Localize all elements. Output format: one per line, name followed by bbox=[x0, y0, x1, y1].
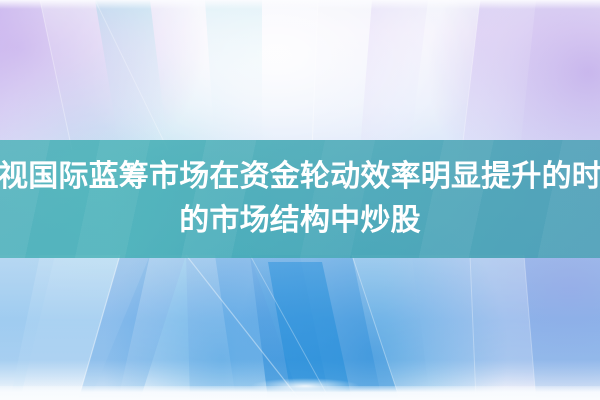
caption-text-block: 透视国际蓝筹市场在资金轮动效率明显提升的时期 的市场结构中炒股 bbox=[0, 140, 600, 258]
banner-image: 透视国际蓝筹市场在资金轮动效率明显提升的时期 的市场结构中炒股 bbox=[0, 0, 600, 400]
caption-line-1: 透视国际蓝筹市场在资金轮动效率明显提升的时期 bbox=[0, 155, 600, 199]
facet-group-upper bbox=[0, 0, 600, 150]
bottom-glow-mark bbox=[250, 378, 360, 394]
caption-line-2: 的市场结构中炒股 bbox=[179, 199, 421, 243]
top-light-strip bbox=[0, 0, 600, 9]
